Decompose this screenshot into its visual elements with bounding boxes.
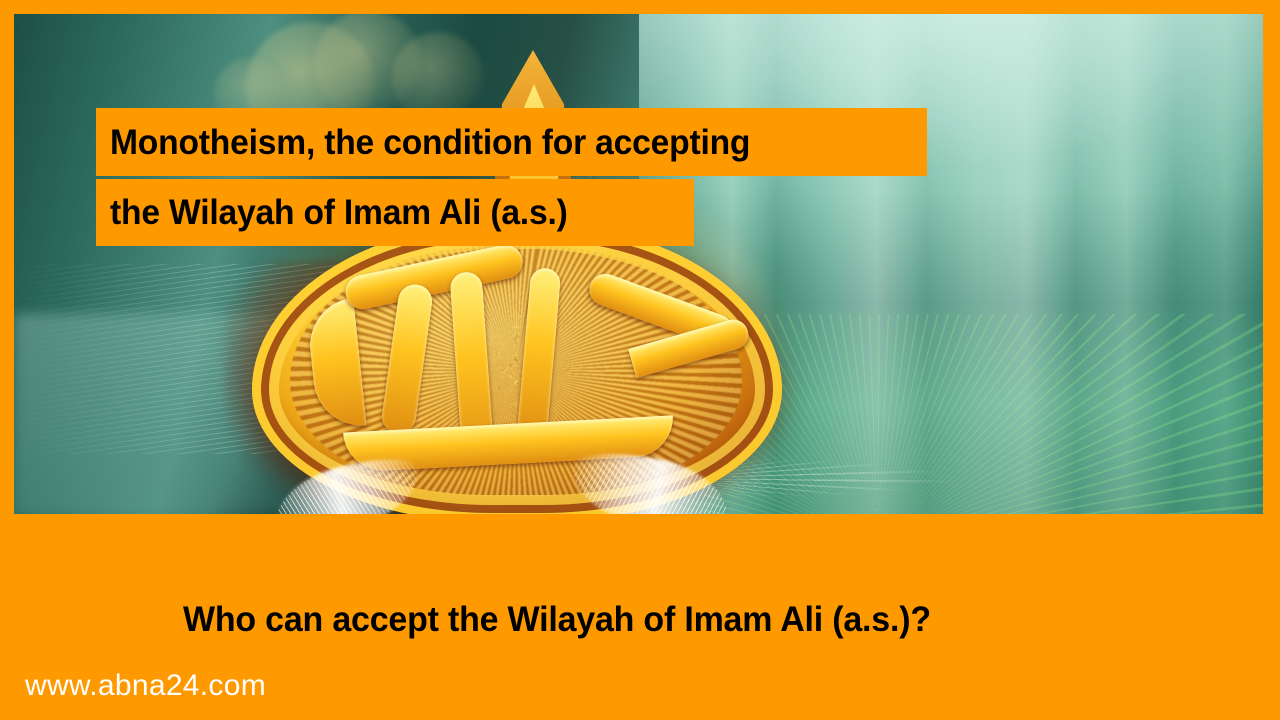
caption-text: Who can accept the Wilayah of Imam Ali (… [183,600,1105,640]
hero-image: Monotheism, the condition for accepting … [14,14,1263,514]
headline-line-1-text: Monotheism, the condition for accepting [110,125,750,160]
headline-line-1: Monotheism, the condition for accepting [96,108,927,176]
calligraphy-medallion [194,32,814,514]
site-url[interactable]: www.abna24.com [25,669,266,703]
headline-line-2: the Wilayah of Imam Ali (a.s.) [96,179,694,246]
headline-line-2-text: the Wilayah of Imam Ali (a.s.) [110,195,568,230]
poster-root: Monotheism, the condition for accepting … [0,0,1280,720]
caption-question: Who can accept the Wilayah of Imam Ali (… [183,600,1133,644]
